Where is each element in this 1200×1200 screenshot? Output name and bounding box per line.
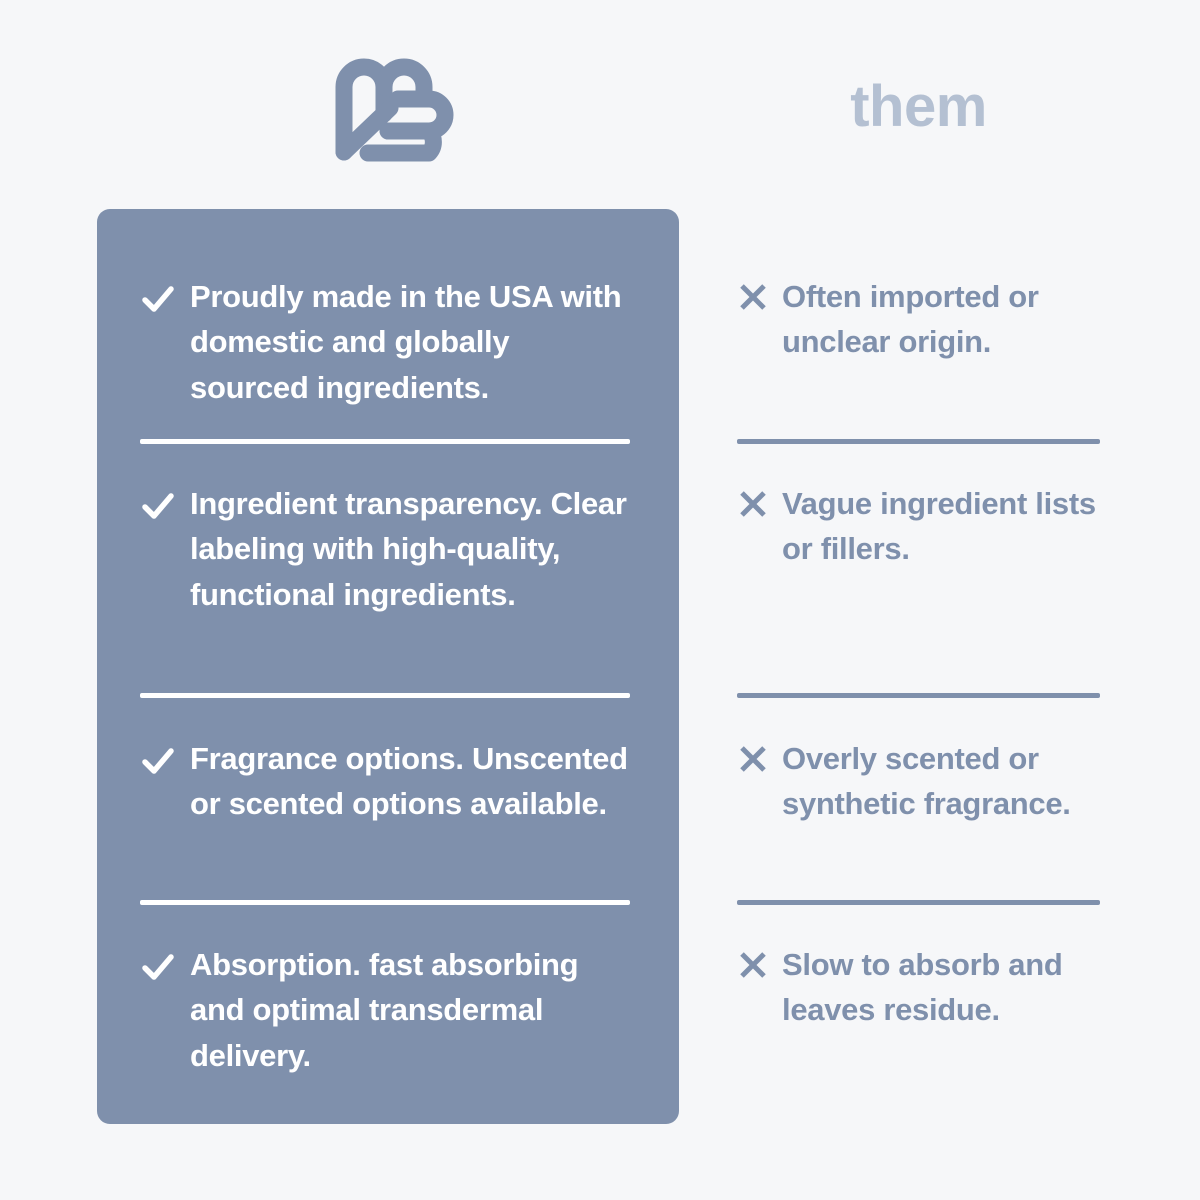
check-icon [140, 488, 176, 524]
us-comparison-card: Proudly made in the USA with domestic an… [97, 209, 679, 1124]
list-item: Absorption. fast absorbing and optimal t… [140, 942, 636, 1078]
divider [737, 900, 1100, 905]
check-icon [140, 949, 176, 985]
mb-monogram-logo [330, 52, 456, 162]
divider [140, 439, 630, 444]
them-comparison-column: Often imported or unclear origin. Vague … [737, 209, 1100, 1124]
divider [737, 693, 1100, 698]
list-item: Ingredient transparency. Clear labeling … [140, 481, 636, 617]
check-icon [140, 281, 176, 317]
divider [737, 439, 1100, 444]
list-item-label: Absorption. fast absorbing and optimal t… [190, 942, 636, 1078]
check-icon [140, 743, 176, 779]
list-item: Fragrance options. Unscented or scented … [140, 736, 636, 827]
list-item-label: Vague ingredient lists or fillers. [782, 481, 1107, 572]
list-item-label: Overly scented or synthetic fragrance. [782, 736, 1107, 827]
list-item-label: Fragrance options. Unscented or scented … [190, 736, 636, 827]
divider [140, 900, 630, 905]
list-item: Vague ingredient lists or fillers. [737, 481, 1107, 572]
list-item: Proudly made in the USA with domestic an… [140, 274, 636, 410]
x-icon [737, 488, 769, 520]
list-item: Slow to absorb and leaves residue. [737, 942, 1107, 1033]
x-icon [737, 281, 769, 313]
list-item-label: Often imported or unclear origin. [782, 274, 1107, 365]
divider [140, 693, 630, 698]
x-icon [737, 743, 769, 775]
list-item-label: Proudly made in the USA with domestic an… [190, 274, 636, 410]
list-item: Often imported or unclear origin. [737, 274, 1107, 365]
comparison-infographic: them Proudly made in the USA with domest… [0, 0, 1200, 1200]
us-benefit-list: Proudly made in the USA with domestic an… [140, 209, 636, 1124]
x-icon [737, 949, 769, 981]
them-column-header: them [737, 78, 1100, 136]
list-item-label: Ingredient transparency. Clear labeling … [190, 481, 636, 617]
list-item: Overly scented or synthetic fragrance. [737, 736, 1107, 827]
list-item-label: Slow to absorb and leaves residue. [782, 942, 1107, 1033]
